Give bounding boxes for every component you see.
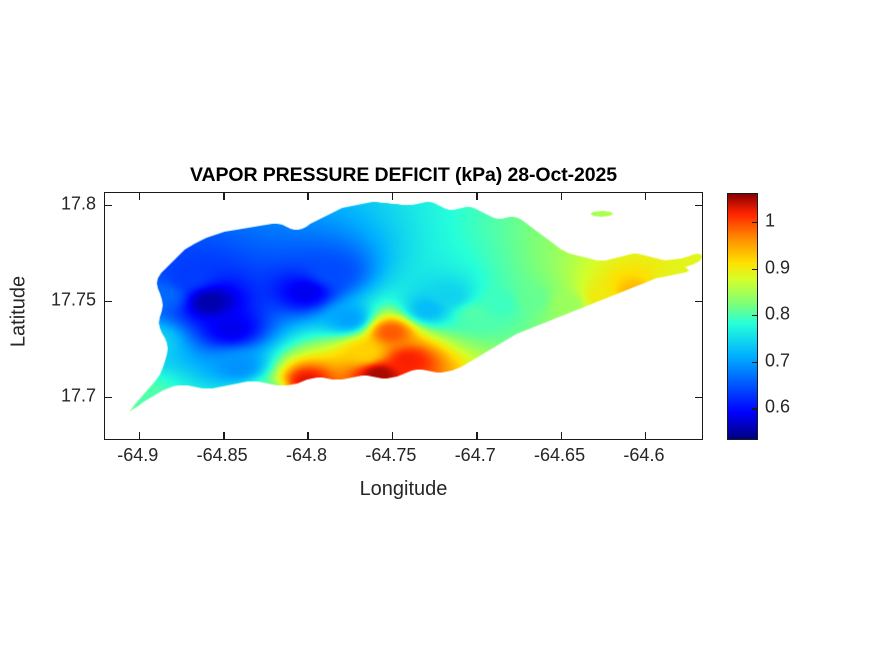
colorbar-tick-label: 1	[765, 210, 775, 231]
x-axis-tick	[476, 432, 477, 439]
x-axis-tick-label: -64.85	[197, 445, 248, 466]
x-axis-tick-label: -64.65	[534, 445, 585, 466]
x-axis-tick-top	[223, 193, 224, 200]
x-axis-tick-top	[476, 193, 477, 200]
y-axis-tick-right	[695, 397, 702, 398]
x-axis-tick-top	[645, 193, 646, 200]
colorbar-tick-label: 0.6	[765, 397, 790, 418]
y-axis-tick-right	[695, 205, 702, 206]
page-title: VAPOR PRESSURE DEFICIT (kPa) 28-Oct-2025	[104, 164, 703, 187]
colorbar-tick	[752, 315, 757, 316]
y-axis-tick-label: 17.8	[8, 193, 96, 214]
colorbar[interactable]	[727, 193, 758, 440]
x-axis-tick-label: -64.6	[623, 445, 664, 466]
x-axis-tick-top	[561, 193, 562, 200]
x-axis-tick-top	[307, 193, 308, 200]
x-axis-tick	[223, 432, 224, 439]
colorbar-gradient	[728, 194, 757, 439]
x-axis-tick	[139, 432, 140, 439]
y-axis-tick	[105, 301, 112, 302]
x-axis-tick	[307, 432, 308, 439]
colorbar-tick	[752, 408, 757, 409]
x-axis-tick	[645, 432, 646, 439]
vpd-heatmap-canvas	[105, 193, 702, 439]
y-axis-label: Latitude	[8, 252, 31, 372]
map-axes	[104, 192, 703, 440]
y-axis-tick-label: 17.7	[8, 385, 96, 406]
x-axis-tick	[561, 432, 562, 439]
x-axis-tick-label: -64.8	[286, 445, 327, 466]
x-axis-label: Longitude	[104, 478, 703, 501]
y-axis-tick-right	[695, 301, 702, 302]
colorbar-tick	[752, 222, 757, 223]
colorbar-tick-label: 0.8	[765, 304, 790, 325]
colorbar-tick	[752, 362, 757, 363]
x-axis-tick	[392, 432, 393, 439]
x-axis-tick-label: -64.75	[365, 445, 416, 466]
x-axis-tick-top	[139, 193, 140, 200]
matlab-figure-window: VAPOR PRESSURE DEFICIT (kPa) 28-Oct-2025…	[0, 0, 875, 656]
x-axis-tick-top	[392, 193, 393, 200]
colorbar-tick-label: 0.7	[765, 350, 790, 371]
x-axis-tick-label: -64.9	[117, 445, 158, 466]
y-axis-tick	[105, 397, 112, 398]
colorbar-tick-label: 0.9	[765, 257, 790, 278]
colorbar-tick	[752, 269, 757, 270]
y-axis-tick	[105, 205, 112, 206]
x-axis-tick-label: -64.7	[455, 445, 496, 466]
